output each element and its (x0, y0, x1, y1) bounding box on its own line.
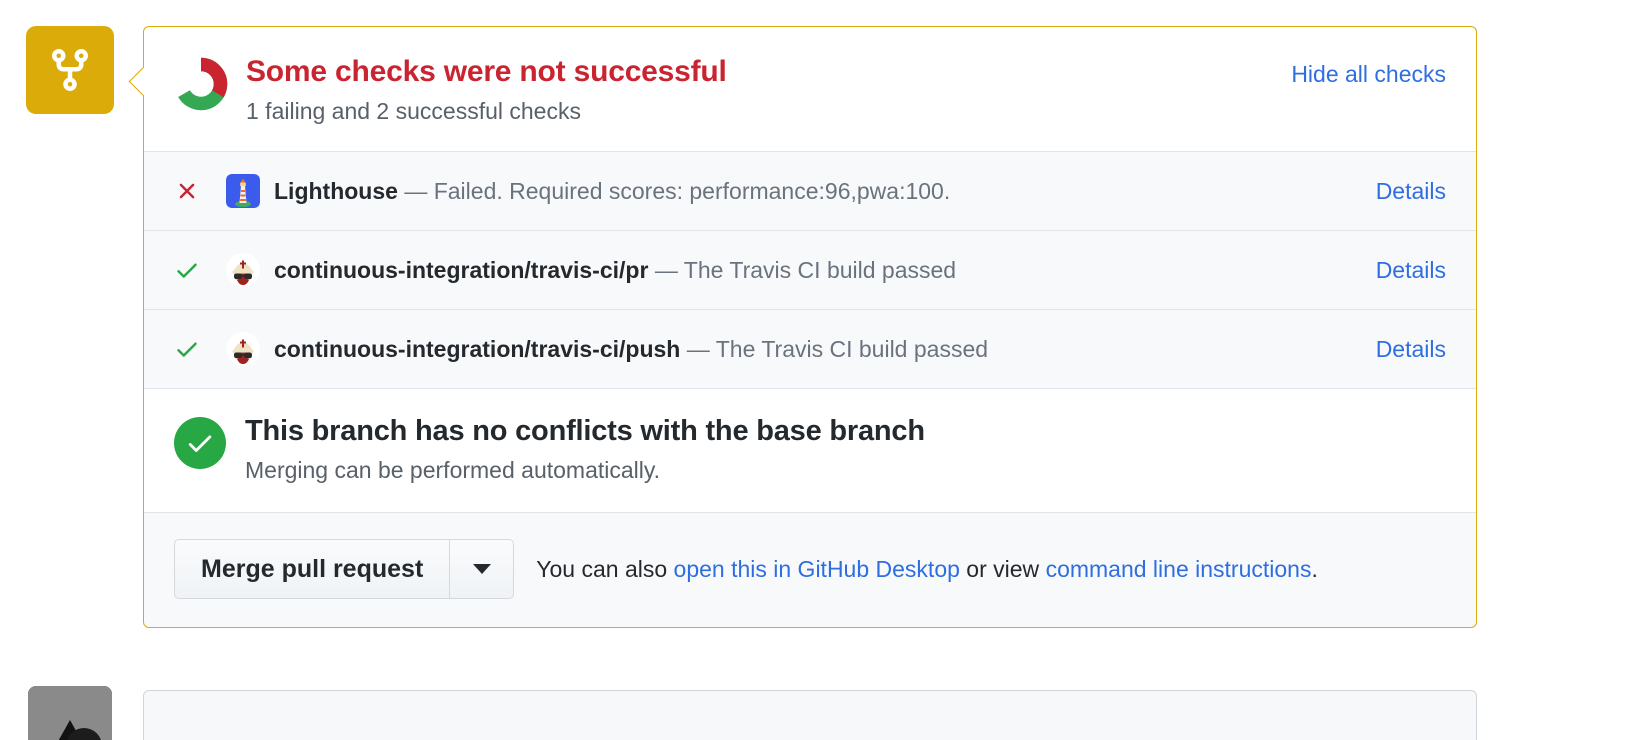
check-details-link[interactable]: Details (1376, 257, 1446, 284)
branch-conflicts-text: This branch has no conflicts with the ba… (245, 415, 925, 484)
git-merge-timeline-badge (26, 26, 114, 114)
status-donut-icon (174, 57, 228, 111)
check-separator: — (404, 178, 427, 204)
check-name: continuous-integration/travis-ci/pr (274, 257, 648, 283)
table-row[interactable]: continuous-integration/travis-ci/pr — Th… (144, 230, 1476, 309)
merge-status-title: Some checks were not successful (246, 55, 1271, 90)
check-row-text: continuous-integration/travis-ci/push — … (274, 336, 1356, 363)
check-description: The Travis CI build passed (684, 257, 956, 283)
lighthouse-avatar (226, 174, 260, 208)
merge-options-dropdown-button[interactable] (450, 539, 514, 599)
check-name: Lighthouse (274, 178, 398, 204)
merge-status-header-text: Some checks were not successful 1 failin… (246, 55, 1271, 125)
check-description: Failed. Required scores: performance:96,… (434, 178, 951, 204)
check-details-link[interactable]: Details (1376, 336, 1446, 363)
avatar[interactable] (28, 686, 112, 740)
check-icon (174, 336, 214, 362)
travis-ci-avatar (226, 332, 260, 366)
table-row[interactable]: Lighthouse — Failed. Required scores: pe… (144, 151, 1476, 230)
check-description: The Travis CI build passed (716, 336, 988, 362)
x-icon (174, 178, 214, 204)
hide-all-checks-link[interactable]: Hide all checks (1291, 61, 1446, 88)
branch-conflicts-section: This branch has no conflicts with the ba… (144, 388, 1476, 512)
branch-conflicts-subtitle: Merging can be performed automatically. (245, 457, 925, 484)
chevron-down-icon (473, 564, 491, 574)
checks-list: Lighthouse — Failed. Required scores: pe… (144, 151, 1476, 388)
travis-ci-avatar (226, 253, 260, 287)
check-separator: — (655, 257, 678, 283)
merge-help-text: You can also open this in GitHub Desktop… (536, 556, 1318, 583)
table-row[interactable]: continuous-integration/travis-ci/push — … (144, 309, 1476, 388)
merge-actions-bar: Merge pull request You can also open thi… (144, 512, 1476, 627)
check-separator: — (687, 336, 710, 362)
comment-box-partial[interactable] (143, 690, 1477, 740)
command-line-instructions-link[interactable]: command line instructions (1046, 556, 1312, 582)
git-merge-icon (46, 46, 94, 94)
check-name: continuous-integration/travis-ci/push (274, 336, 680, 362)
check-row-text: Lighthouse — Failed. Required scores: pe… (274, 178, 1356, 205)
merge-help-suffix: . (1311, 556, 1317, 582)
check-icon (174, 257, 214, 283)
merge-help-middle: or view (960, 556, 1046, 582)
open-in-github-desktop-link[interactable]: open this in GitHub Desktop (674, 556, 960, 582)
merge-help-prefix: You can also (536, 556, 673, 582)
merge-status-subtitle: 1 failing and 2 successful checks (246, 98, 1271, 126)
merge-status-box: Some checks were not successful 1 failin… (143, 26, 1477, 628)
check-row-text: continuous-integration/travis-ci/pr — Th… (274, 257, 1356, 284)
merge-status-header: Some checks were not successful 1 failin… (144, 27, 1476, 151)
merge-pull-request-button[interactable]: Merge pull request (174, 539, 450, 599)
check-circle-icon (174, 417, 226, 469)
branch-conflicts-title: This branch has no conflicts with the ba… (245, 415, 925, 448)
pull-request-merge-status-page: Some checks were not successful 1 failin… (0, 0, 1644, 740)
check-details-link[interactable]: Details (1376, 178, 1446, 205)
merge-button-group: Merge pull request (174, 539, 514, 599)
